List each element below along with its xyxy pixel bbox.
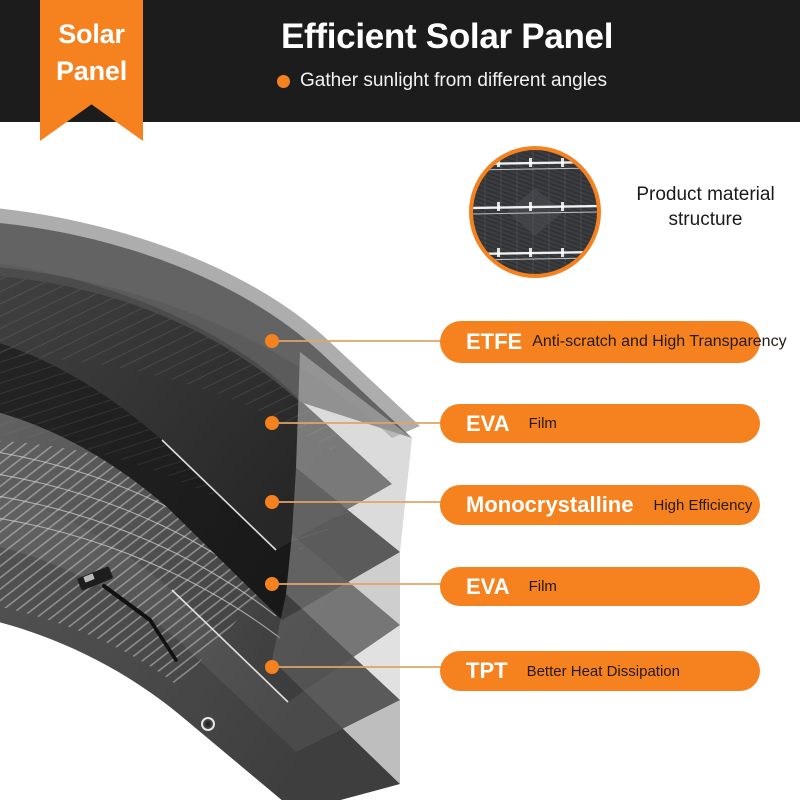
layer-pill-eva-lower[interactable]: EVA Film	[440, 567, 760, 606]
page-subtitle: Gather sunlight from different angles	[300, 70, 607, 92]
infographic-canvas: Solar Panel Efficient Solar Panel Gather…	[0, 0, 800, 800]
layer-desc-eva-lower: Film	[529, 578, 557, 595]
layer-name-tpt: TPT	[466, 658, 508, 684]
layer-name-monocrystalline: Monocrystalline	[466, 492, 633, 518]
layer-name-etfe: ETFE	[466, 329, 522, 355]
layer-pill-etfe[interactable]: ETFE Anti-scratch and High Transparency	[440, 321, 760, 363]
layer-desc-monocrystalline: High Efficiency	[653, 497, 752, 514]
layer-desc-eva-upper: Film	[529, 415, 557, 432]
pm-line-1: Product material	[613, 182, 798, 207]
solar-panel-exploded-illustration	[0, 120, 470, 800]
solar-cell-closeup-icon	[467, 144, 603, 280]
pm-line-2: structure	[613, 207, 798, 232]
product-material-structure-label: Product material structure	[613, 182, 798, 232]
layer-pill-tpt[interactable]: TPT Better Heat Dissipation	[440, 651, 760, 691]
page-title: Efficient Solar Panel	[281, 17, 613, 57]
orange-dot-icon	[277, 75, 290, 88]
grommet-hole	[205, 721, 211, 727]
layer-name-eva-lower: EVA	[466, 574, 510, 600]
layer-desc-tpt: Better Heat Dissipation	[527, 663, 680, 680]
layer-desc-etfe: Anti-scratch and High Transparency	[532, 333, 786, 351]
ribbon-line-1: Solar	[58, 16, 125, 53]
layer-name-eva-upper: EVA	[466, 411, 510, 437]
layer-pill-monocrystalline[interactable]: Monocrystalline High Efficiency	[440, 485, 760, 525]
subtitle-row: Gather sunlight from different angles	[277, 70, 607, 92]
ribbon-line-2: Panel	[56, 53, 127, 90]
layer-pill-eva-upper[interactable]: EVA Film	[440, 404, 760, 443]
